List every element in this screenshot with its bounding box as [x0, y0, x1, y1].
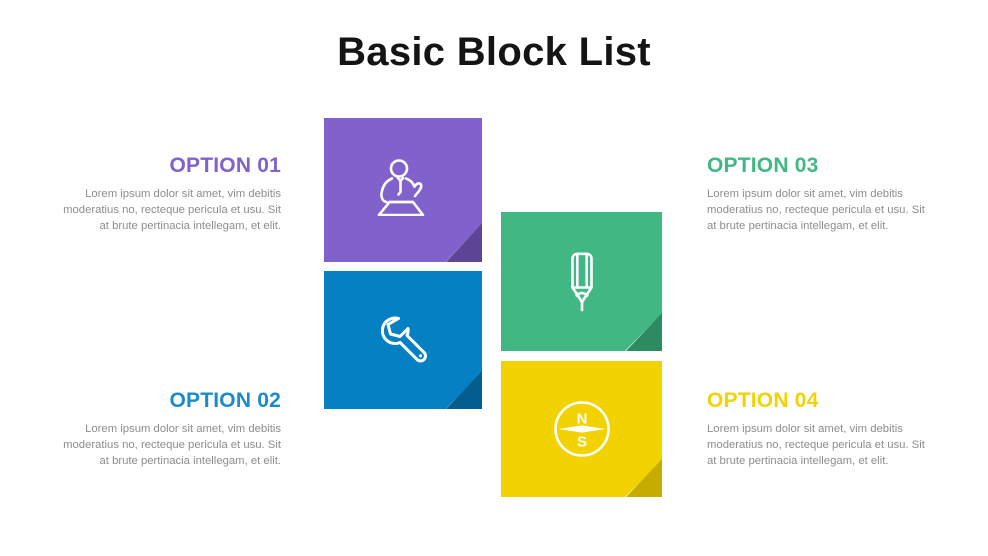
wrench-icon [324, 271, 482, 409]
presenter-icon [324, 118, 482, 262]
option-01-heading: OPTION 01 [53, 155, 281, 177]
option-04-block[interactable]: N S [501, 361, 662, 497]
option-01-block[interactable] [324, 118, 482, 262]
compass-north-label: N [576, 411, 587, 428]
option-02-description: Lorem ipsum dolor sit amet, vim debitis … [53, 421, 281, 469]
option-02-text-group: OPTION 02 Lorem ipsum dolor sit amet, vi… [53, 390, 281, 469]
pencil-icon [501, 212, 662, 351]
option-02-block[interactable] [324, 271, 482, 409]
option-03-text-group: OPTION 03 Lorem ipsum dolor sit amet, vi… [707, 155, 935, 234]
option-03-heading: OPTION 03 [707, 155, 935, 177]
option-01-description: Lorem ipsum dolor sit amet, vim debitis … [53, 186, 281, 234]
option-03-description: Lorem ipsum dolor sit amet, vim debitis … [707, 186, 935, 234]
option-04-description: Lorem ipsum dolor sit amet, vim debitis … [707, 421, 935, 469]
compass-south-label: S [576, 434, 586, 451]
compass-icon: N S [501, 361, 662, 497]
page-title: Basic Block List [0, 30, 988, 75]
option-01-text-group: OPTION 01 Lorem ipsum dolor sit amet, vi… [53, 155, 281, 234]
option-04-heading: OPTION 04 [707, 390, 935, 412]
option-02-heading: OPTION 02 [53, 390, 281, 412]
option-03-block[interactable] [501, 212, 662, 351]
option-04-text-group: OPTION 04 Lorem ipsum dolor sit amet, vi… [707, 390, 935, 469]
